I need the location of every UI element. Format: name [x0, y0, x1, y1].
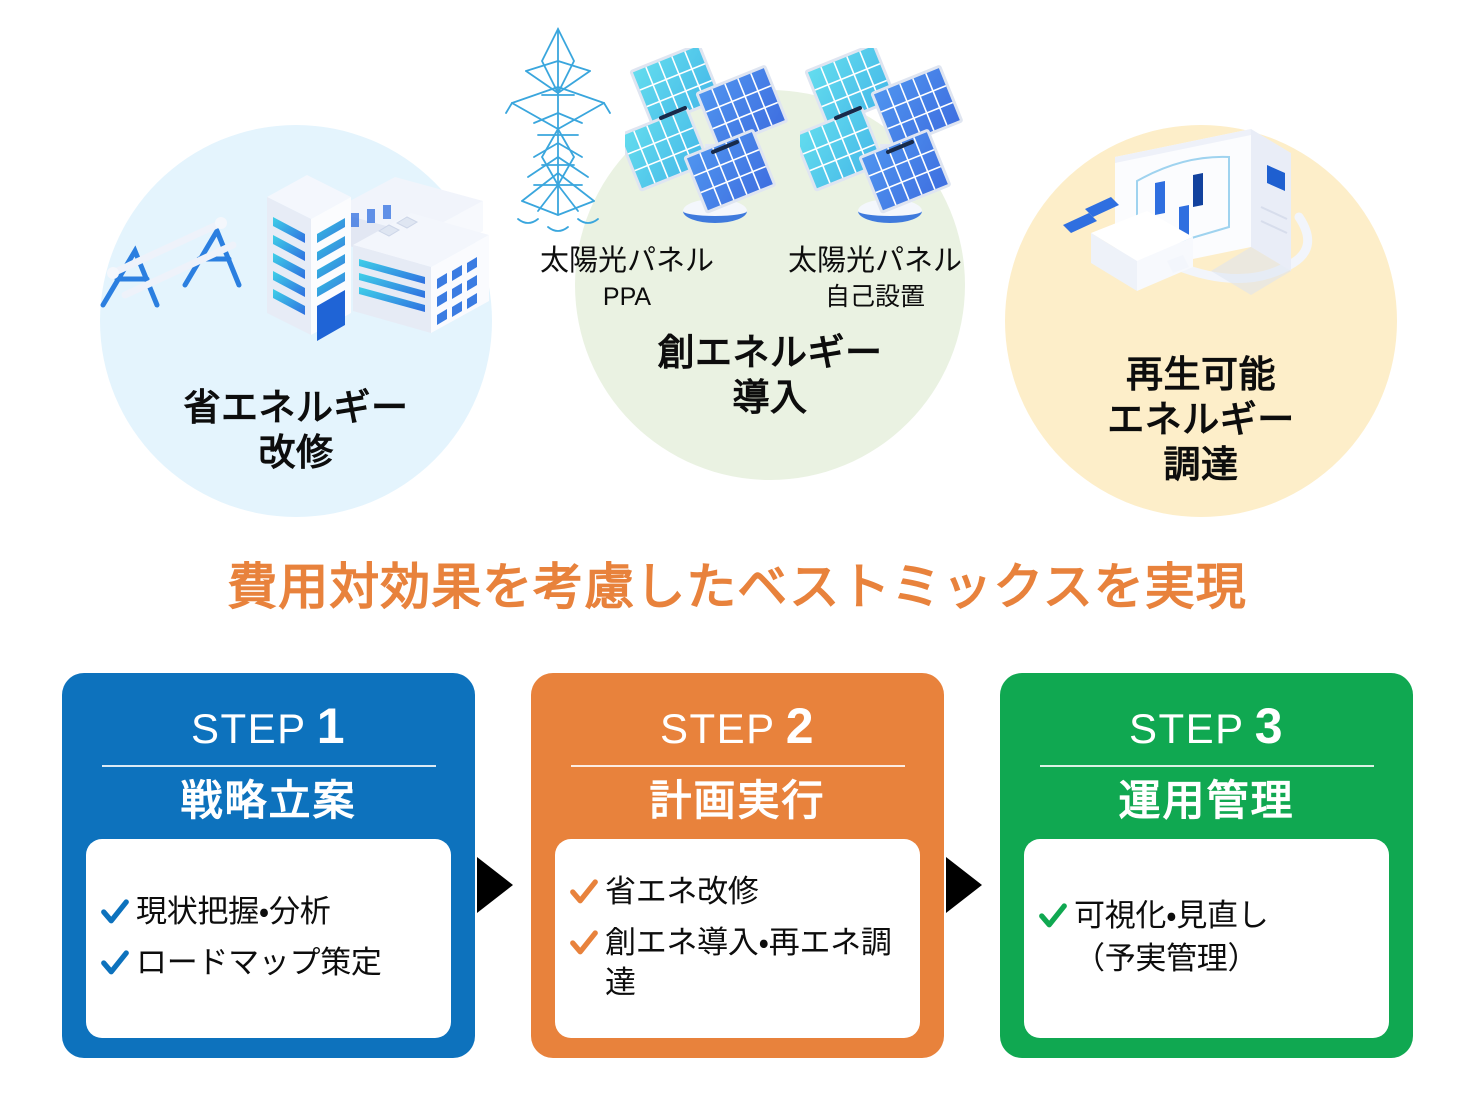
- step-3-label: STEP: [1129, 705, 1245, 752]
- circle-label-renewable: 再生可能 エネルギー 調達: [1005, 352, 1397, 487]
- panel-caption-self-sub: 自己設置: [760, 282, 990, 313]
- step-2-item-1: 創エネ導入・再エネ調達: [569, 923, 912, 1004]
- triangle-right-icon-2: [946, 857, 982, 913]
- step-1-label: STEP: [191, 705, 307, 752]
- step-box-1[interactable]: STEP1 戦略立案 現状把握・分析 ロードマップ策定: [62, 673, 475, 1058]
- step-1-card: 現状把握・分析 ロードマップ策定: [86, 839, 451, 1038]
- step-1-item-0: 現状把握・分析: [100, 892, 443, 932]
- transmission-tower-icon: [498, 25, 618, 240]
- buildings-icon: [95, 155, 495, 355]
- panel-caption-self: 太陽光パネル 自己設置: [760, 243, 990, 314]
- step-2-card: 省エネ改修 創エネ導入・再エネ調達: [555, 839, 920, 1038]
- step-box-3[interactable]: STEP3 運用管理 可視化・見直し （予実管理）: [1000, 673, 1413, 1058]
- step-2-number: 2: [786, 698, 815, 754]
- step-2-item-0: 省エネ改修: [569, 872, 912, 912]
- step-3-divider: [1040, 765, 1374, 767]
- panel-caption-ppa: 太陽光パネル PPA: [512, 243, 742, 314]
- check-icon: [100, 948, 130, 978]
- step-3-card: 可視化・見直し （予実管理）: [1024, 839, 1389, 1038]
- step-1-item-1-label: ロードマップ策定: [136, 943, 382, 983]
- headline-best-mix: 費用対効果を考慮したベストミックスを実現: [0, 560, 1474, 615]
- solar-panel-icon-self: [800, 48, 975, 238]
- step-3-item-0-label: 可視化・見直し: [1074, 896, 1268, 936]
- step-3-item-1-label: （予実管理）: [1074, 939, 1258, 979]
- step-1-header: STEP1: [191, 701, 346, 751]
- infographic-canvas: 省エネルギー 改修 創エネルギー 導入 再生可能 エネルギー 調達 太陽光パネル…: [0, 0, 1474, 1120]
- triangle-right-icon-1: [477, 857, 513, 913]
- step-2-title: 計画実行: [649, 777, 825, 825]
- step-2-label: STEP: [660, 705, 776, 752]
- check-icon: [1038, 901, 1068, 931]
- panel-caption-self-title: 太陽光パネル: [760, 243, 990, 279]
- power-plug-icon: [1055, 115, 1355, 325]
- panel-caption-ppa-sub: PPA: [512, 282, 742, 313]
- step-box-2[interactable]: STEP2 計画実行 省エネ改修 創エネ導入・再エネ調達: [531, 673, 944, 1058]
- step-2-item-0-label: 省エネ改修: [605, 872, 759, 912]
- step-1-divider: [102, 765, 436, 767]
- solar-panel-icon-ppa: [625, 48, 800, 238]
- step-3-item-0: 可視化・見直し: [1038, 896, 1381, 936]
- step-1-item-1: ロードマップ策定: [100, 943, 443, 983]
- step-3-item-1: （予実管理）: [1038, 939, 1381, 979]
- check-icon: [569, 928, 599, 958]
- panel-caption-ppa-title: 太陽光パネル: [512, 243, 742, 279]
- step-2-divider: [571, 765, 905, 767]
- step-2-header: STEP2: [660, 701, 815, 751]
- check-icon: [569, 877, 599, 907]
- circle-label-energy-saving: 省エネルギー 改修: [100, 385, 492, 475]
- step-3-header: STEP3: [1129, 701, 1284, 751]
- step-2-item-1-label: 創エネ導入・再エネ調達: [605, 923, 912, 1004]
- step-1-number: 1: [317, 698, 346, 754]
- step-1-title: 戦略立案: [180, 777, 356, 825]
- step-3-title: 運用管理: [1118, 777, 1294, 825]
- circle-label-energy-creation: 創エネルギー 導入: [575, 330, 965, 420]
- step-1-item-0-label: 現状把握・分析: [136, 892, 330, 932]
- step-3-number: 3: [1255, 698, 1284, 754]
- check-icon: [100, 897, 130, 927]
